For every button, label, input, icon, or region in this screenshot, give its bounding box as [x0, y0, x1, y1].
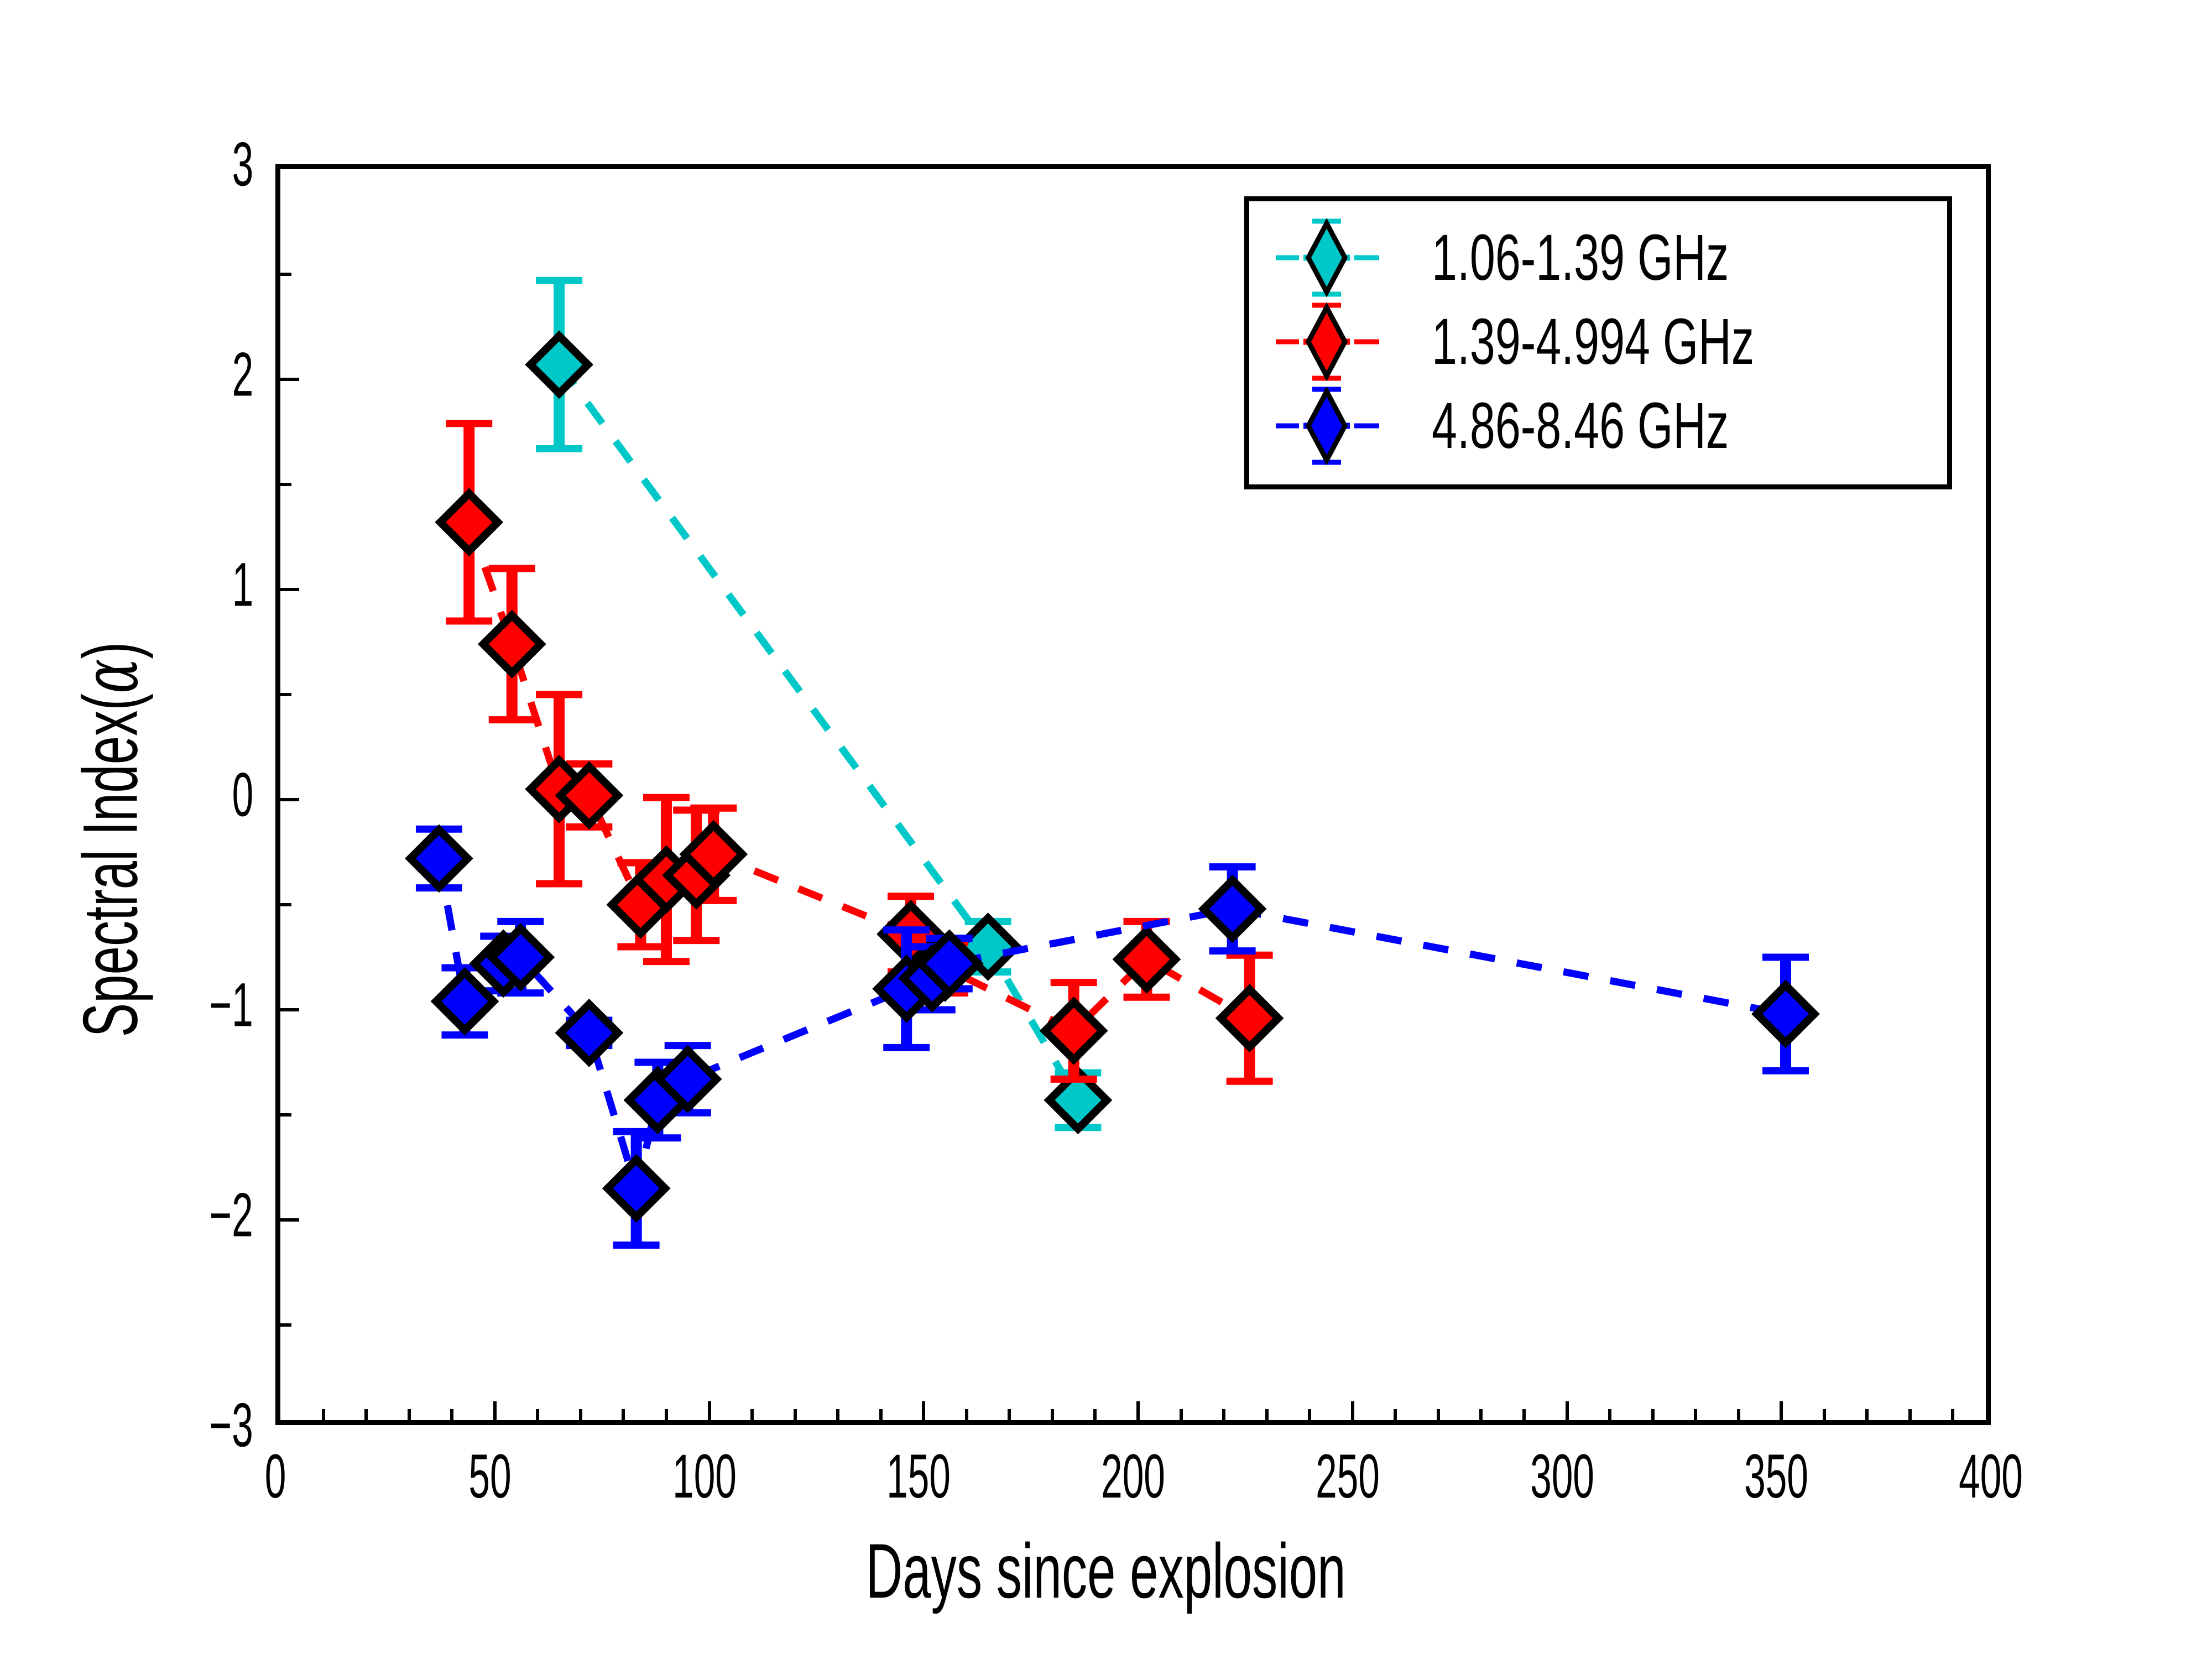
x-tick-minor [665, 1409, 668, 1420]
legend-label-2: 4.86-8.46 GHz [1432, 393, 1856, 458]
x-tick-minor [1823, 1409, 1826, 1420]
x-tick-minor [1394, 1409, 1397, 1420]
x-tick-minor [1951, 1409, 1954, 1420]
data-point-diamond [436, 973, 494, 1030]
y-tick-label: 2 [32, 339, 253, 410]
y-tick-label: −3 [32, 1390, 253, 1461]
y-tick-minor [280, 273, 291, 276]
legend-marker-diamond [1308, 392, 1345, 460]
x-tick-minor [750, 1409, 754, 1420]
x-tick-minor [1694, 1409, 1697, 1420]
x-tick-minor [1865, 1409, 1869, 1420]
legend-marker-blue [1266, 384, 1432, 468]
data-point-diamond [608, 1160, 665, 1217]
x-tick-minor [1522, 1409, 1526, 1420]
x-tick-label: 0 [258, 1441, 293, 1512]
x-axis-title: Days since explosion [0, 1526, 2212, 1616]
legend-diamond-red [1266, 300, 1432, 384]
data-point-diamond [440, 493, 498, 551]
x-tick-label: 250 [1296, 1441, 1399, 1512]
x-tick-minor [1051, 1409, 1054, 1420]
x-tick-minor [1737, 1409, 1740, 1420]
data-point-diamond [1757, 985, 1814, 1043]
spectral-index-figure: Spectral Index(α) Days since explosion 0… [0, 0, 2212, 1659]
x-tick-minor [1608, 1409, 1611, 1420]
data-point-diamond [530, 336, 588, 393]
x-tick-major [1351, 1401, 1354, 1420]
y-tick-major [280, 588, 299, 591]
x-tick-minor [450, 1409, 453, 1420]
y-tick-minor [280, 1113, 291, 1117]
x-tick-minor [1008, 1409, 1011, 1420]
x-tick-minor [1265, 1409, 1269, 1420]
x-tick-major [1780, 1401, 1783, 1420]
y-tick-label: 0 [32, 759, 253, 831]
x-tick-label: 200 [1082, 1441, 1185, 1512]
x-tick-minor [1908, 1409, 1912, 1420]
x-tick-minor [1651, 1409, 1655, 1420]
x-tick-major [922, 1401, 925, 1420]
x-tick-minor [536, 1409, 539, 1420]
y-tick-minor [280, 483, 291, 486]
legend-label-0: 1.06-1.39 GHz [1432, 225, 1856, 290]
x-tick-label: 400 [1939, 1441, 2043, 1512]
data-point-diamond [1221, 989, 1279, 1047]
x-tick-label: 350 [1725, 1441, 1828, 1512]
x-tick-label: 150 [867, 1441, 971, 1512]
x-tick-minor [364, 1409, 368, 1420]
y-tick-label: −1 [32, 969, 253, 1041]
x-tick-minor [1180, 1409, 1183, 1420]
x-tick-label: 300 [1510, 1441, 1614, 1512]
x-tick-major [493, 1401, 497, 1420]
x-tick-major [1136, 1401, 1140, 1420]
x-tick-minor [408, 1409, 411, 1420]
x-tick-minor [1093, 1409, 1097, 1420]
y-tick-label: 1 [32, 549, 253, 620]
x-tick-minor [965, 1409, 968, 1420]
legend-item-1[interactable]: 1.39-4.994 GHz [1266, 300, 1931, 384]
y-tick-minor [280, 693, 291, 696]
y-tick-minor [280, 903, 291, 906]
legend-item-2[interactable]: 4.86-8.46 GHz [1266, 384, 1931, 468]
x-axis-title-text: Days since explosion [866, 1526, 1346, 1616]
y-tick-label: −2 [32, 1180, 253, 1251]
data-point-diamond [1204, 880, 1261, 938]
y-tick-label: 3 [32, 129, 253, 200]
series-2 [440, 424, 1278, 1081]
y-tick-major [280, 378, 299, 381]
x-tick-minor [1308, 1409, 1311, 1420]
x-tick-minor [879, 1409, 883, 1420]
x-tick-major [708, 1401, 711, 1420]
y-tick-major [280, 1008, 299, 1011]
x-tick-minor [1479, 1409, 1483, 1420]
x-tick-minor [1222, 1409, 1225, 1420]
x-tick-minor [836, 1409, 839, 1420]
legend-box: 1.06-1.39 GHz 1.39-4.994 GHz 4.86-8.46 G… [1244, 196, 1952, 489]
y-tick-major [280, 1218, 299, 1222]
legend-marker-cyan [1266, 216, 1432, 300]
legend-diamond-cyan [1266, 216, 1432, 300]
x-tick-minor [322, 1409, 325, 1420]
x-tick-minor [794, 1409, 797, 1420]
data-point-diamond [410, 830, 468, 887]
x-tick-minor [579, 1409, 582, 1420]
legend-item-0[interactable]: 1.06-1.39 GHz [1266, 216, 1931, 300]
legend-marker-red [1266, 300, 1432, 384]
x-tick-label: 100 [653, 1441, 756, 1512]
y-tick-major [280, 798, 299, 801]
x-tick-minor [1437, 1409, 1440, 1420]
legend-label-1: 1.39-4.994 GHz [1432, 309, 1892, 374]
x-tick-minor [622, 1409, 625, 1420]
legend-marker-diamond [1308, 223, 1345, 292]
x-tick-label: 50 [455, 1441, 524, 1512]
y-tick-minor [280, 1323, 291, 1327]
legend-marker-diamond [1308, 307, 1345, 376]
legend-diamond-blue [1266, 384, 1432, 468]
x-tick-major [1566, 1401, 1569, 1420]
series-line [559, 364, 1078, 1100]
